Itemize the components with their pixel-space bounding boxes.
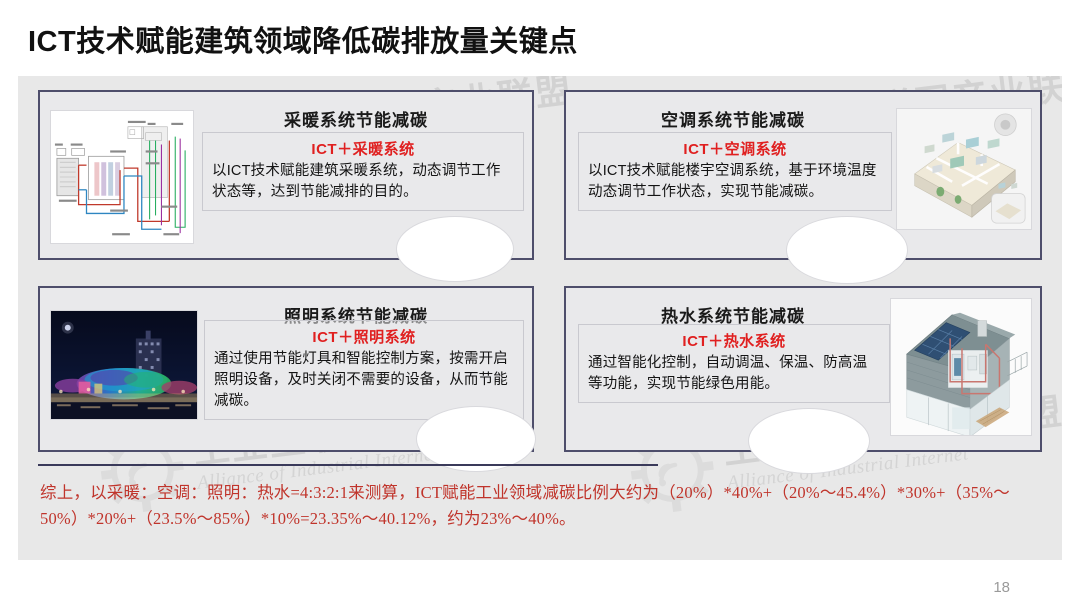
page-title: ICT技术赋能建筑领域降低碳排放量关键点 [28,18,578,60]
panel-lighting-desc-body: 通过使用节能灯具和智能控制方案，按需开启照明设备，及时关闭不需要的设备，从而节能… [214,349,514,412]
panel-air-conditioning-title: 空调系统节能减碳 [576,106,890,131]
building-floorplan-3d-image [896,108,1032,230]
night-city-lighting-image [50,310,198,420]
panel-lighting-desc-head: ICT＋照明系统 [214,326,514,347]
summary-text: 综上，以采暖：空调：照明：热水=4:3:2:1来测算，ICT赋能工业领域减碳比例… [40,480,1040,531]
slide-root: ICT技术赋能建筑领域降低碳排放量关键点 [0,0,1080,608]
panel-air-conditioning-desc: ICT＋空调系统 以ICT技术赋能楼宇空调系统，基于环境温度动态调节工作状态，实… [578,132,892,211]
solar-house-cutaway-image [890,298,1032,436]
heating-schematic-svg [51,111,193,243]
decorative-ellipse-1 [396,216,514,282]
summary-divider [38,464,658,466]
panel-hot-water-desc-head: ICT＋热水系统 [588,330,880,351]
solar-house-svg [891,299,1031,435]
panel-hot-water-desc-body: 通过智能化控制，自动调温、保温、防高温等功能，实现节能绿色用能。 [588,353,880,395]
page-number: 18 [993,579,1010,596]
decorative-ellipse-2 [786,216,908,284]
panel-heating-desc-head: ICT＋采暖系统 [212,138,514,159]
panel-hot-water-desc: ICT＋热水系统 通过智能化控制，自动调温、保温、防高温等功能，实现节能绿色用能… [578,324,890,403]
panel-heating-title: 采暖系统节能减碳 [190,106,522,131]
decorative-ellipse-3 [416,406,536,472]
heating-system-schematic-image [50,110,194,244]
decorative-ellipse-4 [748,408,870,474]
panel-heating-desc-body: 以ICT技术赋能建筑采暖系统，动态调节工作状态等，达到节能减排的目的。 [212,161,514,203]
panel-ac-desc-body: 以ICT技术赋能楼宇空调系统，基于环境温度动态调节工作状态，实现节能减碳。 [588,161,882,203]
content-canvas: 工业互联网产业联盟 Alliance of Industrial Interne… [18,76,1062,560]
floorplan-svg [897,109,1031,229]
night-city-svg [51,311,197,419]
panel-heating-desc: ICT＋采暖系统 以ICT技术赋能建筑采暖系统，动态调节工作状态等，达到节能减排… [202,132,524,211]
panel-ac-desc-head: ICT＋空调系统 [588,138,882,159]
